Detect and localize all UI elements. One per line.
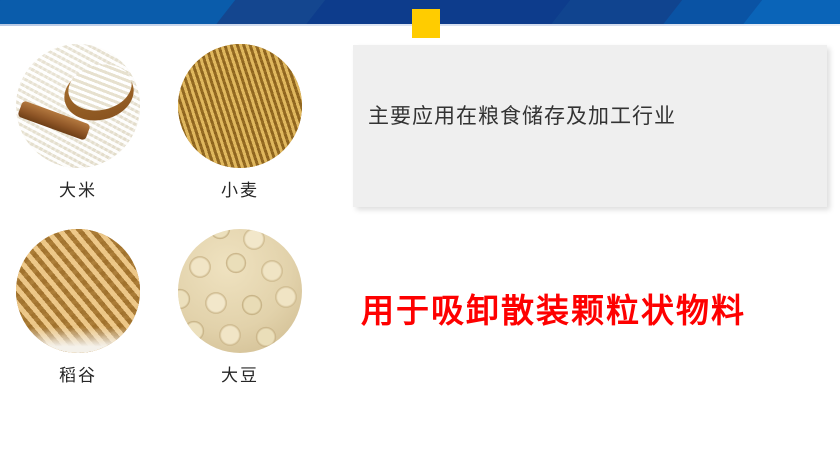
rice-bowl-photo bbox=[16, 44, 140, 168]
photo-label-paddy: 稻谷 bbox=[16, 361, 140, 386]
paddy-grain-photo bbox=[16, 229, 140, 353]
application-description-text: 主要应用在粮食储存及加工行业 bbox=[368, 100, 676, 130]
slide-canvas: 大米 小麦 稻谷 大豆 主要应用在粮食储存及加工行业 用于吸卸散装颗粒状物料 bbox=[0, 0, 840, 464]
wheat-grain-photo bbox=[178, 44, 302, 168]
photo-label-soybean: 大豆 bbox=[178, 361, 302, 386]
paddy-photo-floor-highlight bbox=[16, 327, 140, 353]
wheat-grains-texture bbox=[178, 44, 302, 168]
photo-label-wheat: 小麦 bbox=[178, 176, 302, 201]
photo-label-rice: 大米 bbox=[16, 176, 140, 201]
application-description-panel: 主要应用在粮食储存及加工行业 bbox=[353, 45, 827, 207]
photo-cell-wheat: 小麦 bbox=[178, 44, 302, 201]
soybean-photo bbox=[178, 229, 302, 353]
yellow-accent-square bbox=[412, 9, 440, 38]
photo-cell-paddy: 稻谷 bbox=[16, 229, 140, 386]
soybean-texture bbox=[178, 229, 302, 353]
red-headline: 用于吸卸散装颗粒状物料 bbox=[361, 284, 746, 332]
photo-cell-rice: 大米 bbox=[16, 44, 140, 201]
photo-cell-soybean: 大豆 bbox=[178, 229, 302, 386]
